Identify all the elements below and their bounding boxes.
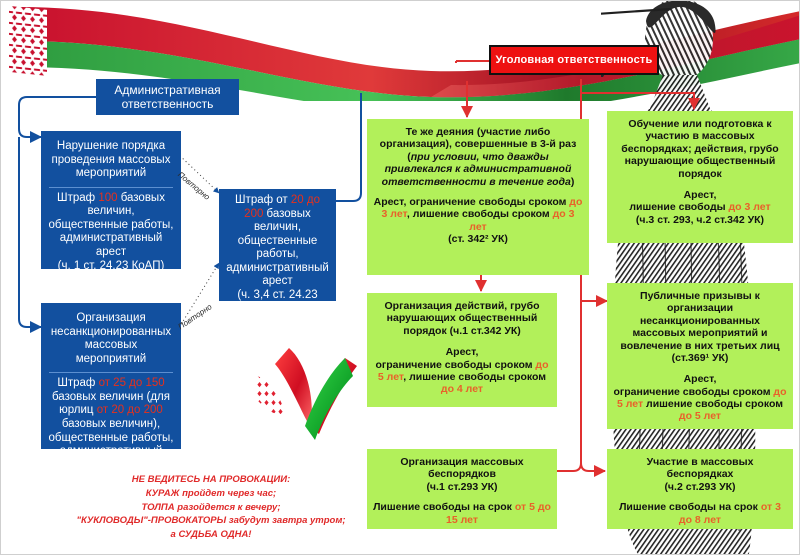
block-title: Публичные призывы к организации несанкци… xyxy=(613,290,787,352)
admin-block-violation-order: Нарушение порядка проведения массовых ме… xyxy=(41,131,181,269)
penalty-part2: , лишение свободы сроком xyxy=(407,208,553,220)
penalty-suffix: базовых величин), общественные работы, а… xyxy=(49,418,174,471)
repeat-penalty-prefix: Штраф от xyxy=(235,194,291,206)
penalty-amount: 100 xyxy=(98,192,117,204)
block-penalty: Лишение свободы на срок от 3 до 8 лет xyxy=(613,501,787,526)
repeat-label-bottom: Повторно xyxy=(176,302,213,331)
penalty-amount-legal: от 20 до 200 xyxy=(97,404,163,416)
repeat-article: (ч. 3,4 ст. 24.23 КоАП) xyxy=(225,289,330,316)
block-article: (ст.369¹ УК) xyxy=(613,352,787,364)
penalty-term1: до 3 лет xyxy=(729,201,771,213)
title-condition: при условии, что дважды привлекался к ад… xyxy=(382,151,572,188)
title-close: ) xyxy=(571,176,575,188)
small-belarus-flag-icon xyxy=(249,336,369,456)
block-body: Штраф 100 базовых величин, общественные … xyxy=(47,192,175,273)
block-article: (ч.3 ст. 293, ч.2 ст.342 УК) xyxy=(613,214,787,226)
admin-block-repeat-penalty: Штраф от 20 до 200 базовых величин, обще… xyxy=(219,189,336,301)
slogan-line-4: "КУКЛОВОДЫ"-ПРОВОКАТОРЫ забудут завтра у… xyxy=(61,514,361,528)
penalty-prefix: Штраф xyxy=(57,377,98,389)
block-title: Участие в массовых беспорядках xyxy=(613,456,787,481)
penalty-head: Арест, xyxy=(373,346,551,358)
infographic-poster: Административная ответственность Нарушен… xyxy=(0,0,800,555)
penalty-term2: до 4 лет xyxy=(441,383,483,395)
block-title: Нарушение порядка проведения массовых ме… xyxy=(47,136,175,183)
penalty-amount: от 25 до 150 xyxy=(99,377,165,389)
criminal-block-organization-gross-violation: Организация действий, грубо нарушающих о… xyxy=(367,293,557,407)
block-article: (ч.2 ст.293 УК) xyxy=(613,481,787,493)
slogan-text: НЕ ВЕДИТЕСЬ НА ПРОВОКАЦИИ: КУРАЖ пройдет… xyxy=(61,473,361,542)
criminal-block-training-participation-riots: Обучение или подготовка к участию в масс… xyxy=(607,111,793,243)
block-title: Организация несанкционированных массовых… xyxy=(47,308,175,368)
block-article: (ч.1 ст.293 УК) xyxy=(373,481,551,493)
criminal-block-same-acts-third-time: Те же деяния (участие либо организация),… xyxy=(367,119,589,275)
block-title: Организация массовых беспорядков xyxy=(373,456,551,481)
penalty-part2: , лишение свободы сроком xyxy=(403,371,546,383)
slogan-line-3: ТОЛПА разойдется к вечеру; xyxy=(61,501,361,515)
block-penalty: Арест, ограничение свободы сроком до 5 л… xyxy=(613,373,787,423)
block-penalty: Лишение свободы на срок от 5 до 15 лет xyxy=(373,501,551,526)
block-title: Организация действий, грубо нарушающих о… xyxy=(373,300,551,337)
block-title: Обучение или подготовка к участию в масс… xyxy=(613,118,787,180)
admin-block-organization-unauthorized: Организация несанкционированных массовых… xyxy=(41,303,181,449)
slogan-line-1: НЕ ВЕДИТЕСЬ НА ПРОВОКАЦИИ: xyxy=(61,473,361,487)
penalty-part1: лишение свободы xyxy=(629,201,728,213)
divider xyxy=(49,372,173,373)
repeat-label-top: Повторно xyxy=(176,170,211,202)
penalty-part2: лишение свободы сроком xyxy=(643,398,783,410)
penalty-term2: до 5 лет xyxy=(679,410,721,422)
penalty-head: Арест, xyxy=(613,189,787,201)
block-title: Те же деяния (участие либо организация),… xyxy=(373,126,583,188)
block-article: (ст. 342² УК) xyxy=(373,233,583,245)
slogan-line-2: КУРАЖ пройдет через час; xyxy=(61,487,361,501)
penalty-head: Арест, xyxy=(613,373,787,385)
slogan-line-5: а СУДЬБА ОДНА! xyxy=(61,528,361,542)
penalty-part1: Лишение свободы на срок xyxy=(619,501,761,513)
criminal-block-participation-mass-riots: Участие в массовых беспорядках (ч.2 ст.2… xyxy=(607,449,793,529)
block-article: (ч. 1 ст. 24.23 КоАП) xyxy=(48,260,174,274)
penalty-prefix: Штраф xyxy=(57,192,98,204)
criminal-header-label: Уголовная ответственность xyxy=(496,54,653,67)
admin-header-line1: Административная xyxy=(114,83,220,97)
admin-header-line2: ответственность xyxy=(122,97,214,111)
repeat-body: Штраф от 20 до 200 базовых величин, обще… xyxy=(225,194,330,316)
block-penalty: Арест, ограничение свободы сроком до 5 л… xyxy=(373,346,551,396)
divider xyxy=(49,187,173,188)
repeat-penalty-suffix: базовых величин, общественные работы, ад… xyxy=(226,208,329,288)
penalty-part1: ограничение свободы сроком xyxy=(613,386,773,398)
criminal-block-public-calls-organization: Публичные призывы к организации несанкци… xyxy=(607,283,793,429)
block-penalty: Арест, ограничение свободы сроком до 3 л… xyxy=(373,196,583,246)
penalty-part1: Арест, ограничение свободы сроком xyxy=(374,196,570,208)
penalty-part1: ограничение свободы сроком xyxy=(375,359,535,371)
criminal-block-organization-mass-riots: Организация массовых беспорядков (ч.1 ст… xyxy=(367,449,557,529)
admin-responsibility-header: Административная ответственность xyxy=(96,79,239,115)
penalty-part1: Лишение свободы на срок xyxy=(373,501,515,513)
block-body: Штраф от 25 до 150 базовых величин (для … xyxy=(47,377,175,486)
block-penalty: Арест, лишение свободы до 3 лет (ч.3 ст.… xyxy=(613,189,787,226)
criminal-responsibility-header: Уголовная ответственность xyxy=(489,45,659,75)
